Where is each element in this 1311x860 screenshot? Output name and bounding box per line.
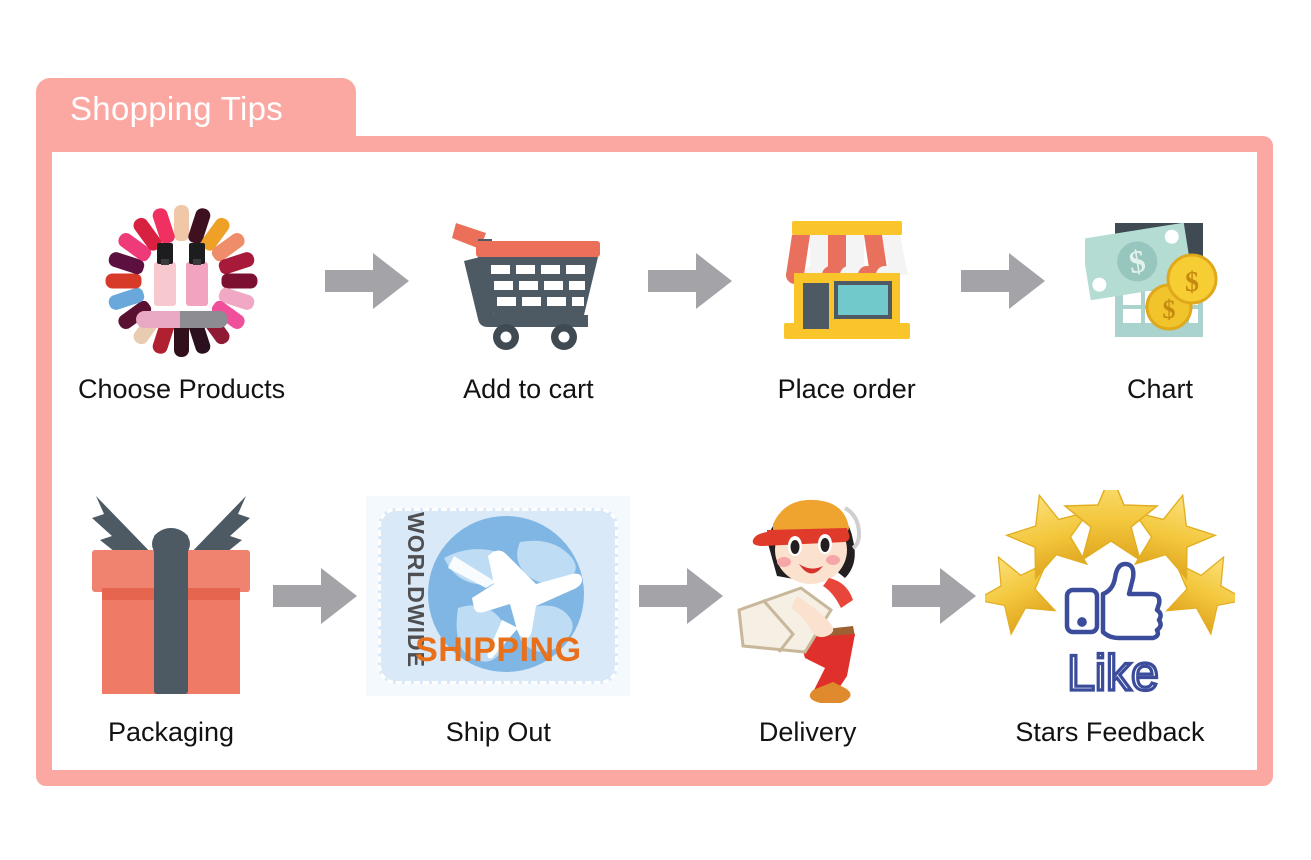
arrow-2 [648,206,732,356]
polish-bottle [186,262,208,306]
step-label: Delivery [759,717,857,748]
right-arrow-icon [892,568,976,624]
step-packaging[interactable]: Packaging [78,488,264,748]
shopping-tips-card: Shopping Tips [36,78,1273,786]
step-place-order[interactable]: Place order [772,206,922,405]
worldwide-shipping-stamp-icon: WORLDWIDE SHIPPING [366,488,630,703]
arrow-5 [639,488,723,703]
right-arrow-icon [273,568,357,624]
step-label: Place order [778,374,916,405]
polish-brush-bar [136,311,228,328]
nail-polish-wheel-icon [96,206,268,356]
step-label: Ship Out [446,717,551,748]
step-label: Chart [1127,374,1193,405]
right-arrow-icon [325,253,409,309]
step-stars-feedback[interactable]: Like Stars Feedback [985,488,1235,748]
polish-bottle [154,262,176,306]
polish-swatch [222,274,258,289]
delivery-person-icon [733,488,883,703]
step-ship-out[interactable]: WORLDWIDE SHIPPING Ship Out [366,488,630,748]
gift-graphic [78,488,264,703]
step-add-to-cart[interactable]: Add to cart [448,206,608,405]
step-delivery[interactable]: Delivery [733,488,883,748]
step-choose-products[interactable]: Choose Products [78,206,285,405]
arrow-4 [273,488,357,703]
right-arrow-icon [648,253,732,309]
arrow-3 [961,206,1045,356]
money-calculator-icon: $ $ $ [1085,206,1235,356]
like-text: Like [1067,645,1159,701]
shopping-tips-tab: Shopping Tips [36,78,356,146]
delivery-graphic [733,488,883,703]
steps-area: Choose Products [68,168,1241,754]
stamp-shipping-text: SHIPPING [366,631,630,670]
five-stars-like-icon: Like [985,488,1235,703]
arrow-1 [325,206,409,356]
step-row-bottom: Packaging [68,488,1241,754]
arrow-6 [892,488,976,703]
right-arrow-icon [961,253,1045,309]
svg-text:$: $ [1162,295,1175,324]
shopping-tips-title: Shopping Tips [70,90,283,128]
step-label: Stars Feedback [1015,717,1204,748]
money-graphic: $ $ $ [1085,211,1235,351]
shopping-tips-frame: Choose Products [36,136,1273,786]
step-row-top: Choose Products [68,206,1241,466]
step-label: Packaging [108,717,234,748]
store-graphic [772,211,922,351]
shopping-cart-icon [448,206,608,356]
polish-swatch [174,205,189,241]
step-label: Add to cart [463,374,594,405]
svg-text:$: $ [1185,267,1199,298]
polish-swatch [106,274,142,289]
shipping-stamp-graphic: WORLDWIDE SHIPPING [366,496,630,696]
step-chart[interactable]: $ $ $ Chart [1085,206,1235,405]
gift-box-icon [78,488,264,703]
stars-like-graphic: Like [985,490,1235,702]
polish-wheel-graphic [96,208,268,354]
right-arrow-icon [639,568,723,624]
cart-graphic [448,211,608,351]
storefront-icon [772,206,922,356]
step-label: Choose Products [78,374,285,405]
